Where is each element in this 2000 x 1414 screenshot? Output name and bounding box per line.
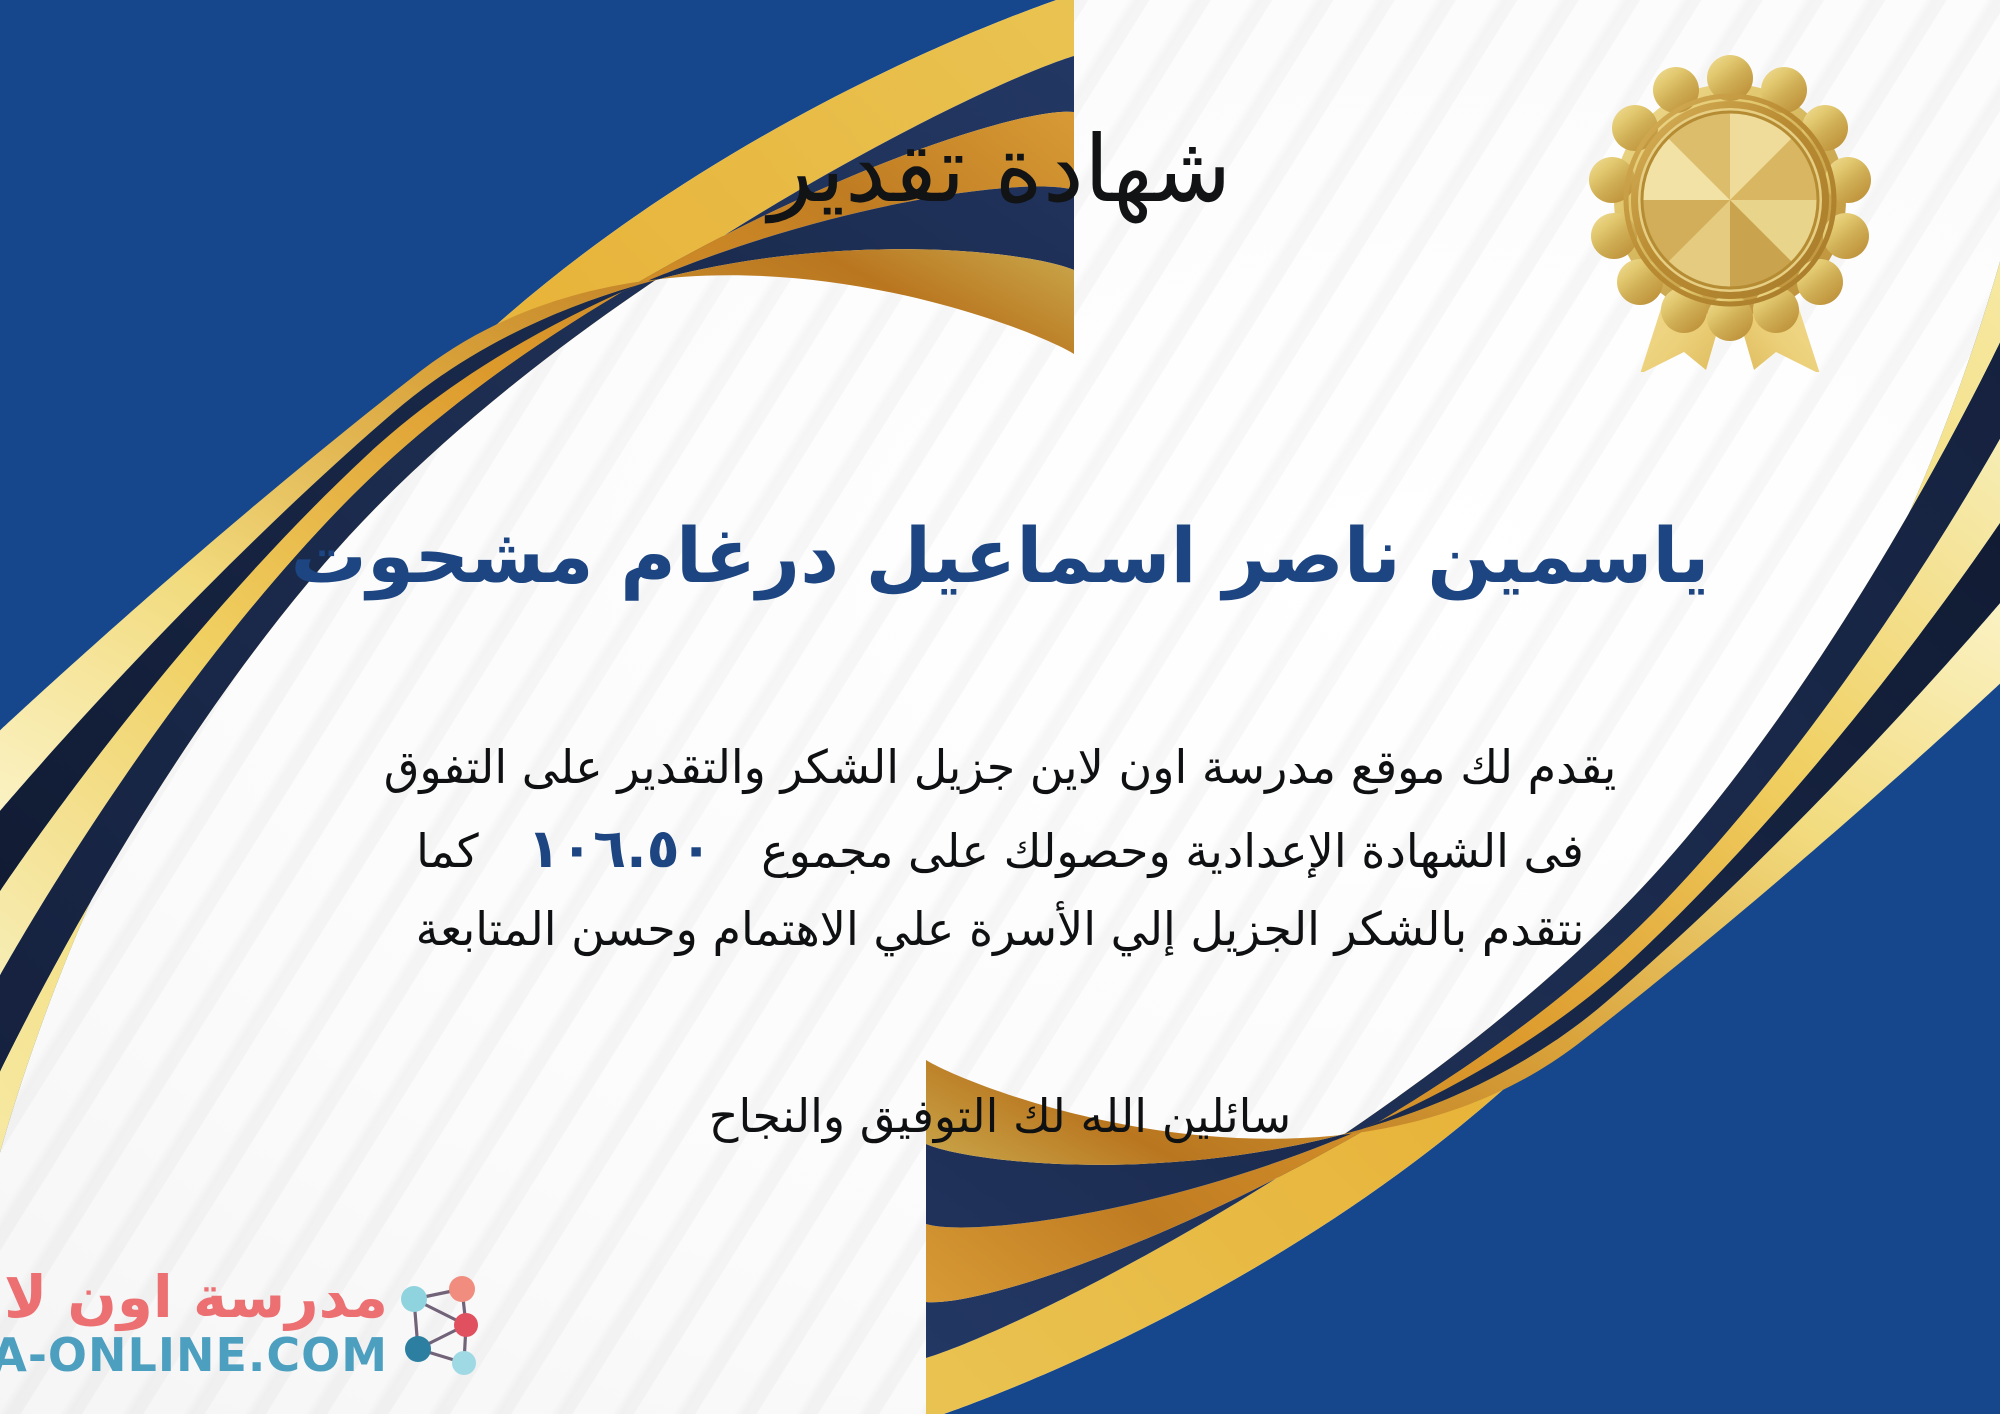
- certificate-body: يقدم لك موقع مدرسة اون لاين جزيل الشكر و…: [170, 730, 1830, 967]
- body-line-2-suffix: كما: [416, 824, 479, 878]
- logo-english-text: MADRSA-ONLINE.COM: [0, 1332, 388, 1378]
- certificate-canvas: شهادة تقدير ياسمين ناصر اسماعيل درغام مش…: [0, 0, 2000, 1414]
- network-nodes-icon: [388, 1263, 496, 1383]
- body-line-3: نتقدم بالشكر الجزيل إلي الأسرة علي الاهت…: [170, 892, 1830, 967]
- body-line-2: فى الشهادة الإعدادية وحصولك على مجموع ١٠…: [170, 805, 1830, 892]
- closing-wish: سائلين الله لك التوفيق والنجاح: [190, 1082, 1810, 1151]
- site-logo[interactable]: مدرسة اون لاين MADRSA-ONLINE.COM: [26, 1248, 496, 1398]
- certificate-content: شهادة تقدير ياسمين ناصر اسماعيل درغام مش…: [190, 0, 1810, 1414]
- recipient-name: ياسمين ناصر اسماعيل درغام مشحوت: [190, 512, 1810, 599]
- body-line-2-prefix: فى الشهادة الإعدادية وحصولك على مجموع: [761, 824, 1584, 878]
- page-title: شهادة تقدير: [190, 122, 1810, 219]
- logo-arabic-text: مدرسة اون لاين: [0, 1268, 388, 1326]
- body-line-1: يقدم لك موقع مدرسة اون لاين جزيل الشكر و…: [170, 730, 1830, 805]
- grade-total: ١٠٦.٥٠: [493, 817, 746, 880]
- logo-text-group: مدرسة اون لاين MADRSA-ONLINE.COM: [0, 1268, 388, 1378]
